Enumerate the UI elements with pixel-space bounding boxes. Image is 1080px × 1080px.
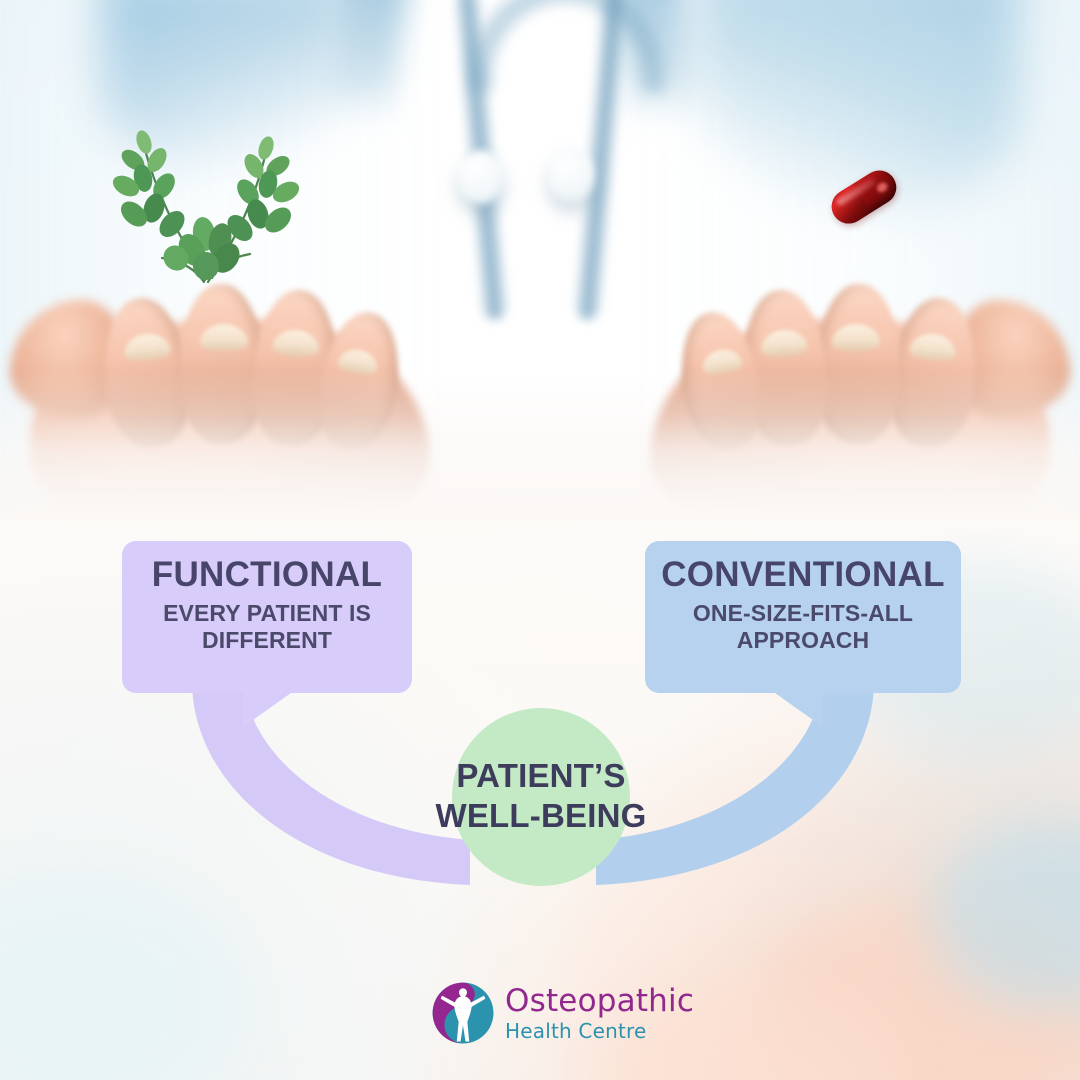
stethoscope-yoke bbox=[470, 0, 664, 92]
patient-wellbeing-line-2: WELL-BEING bbox=[382, 796, 700, 836]
logo-title: Osteopathic bbox=[505, 986, 694, 1017]
functional-subtitle-line-1: EVERY PATIENT IS bbox=[136, 600, 398, 627]
functional-subtitle-line-2: DIFFERENT bbox=[136, 627, 398, 654]
bubble-tail-right bbox=[775, 693, 823, 727]
patient-wellbeing-label: PATIENT’S WELL-BEING bbox=[382, 756, 700, 835]
photo-bottom-fade bbox=[0, 370, 1080, 520]
osteopathic-health-centre-logo-mark bbox=[432, 982, 494, 1044]
herb-sprig-icon bbox=[100, 108, 320, 288]
logo-wordmark: Osteopathic Health Centre bbox=[505, 986, 694, 1041]
conventional-title: CONVENTIONAL bbox=[659, 557, 947, 593]
patient-wellbeing-line-1: PATIENT’S bbox=[382, 756, 700, 796]
conventional-subtitle-line-2: APPROACH bbox=[659, 627, 947, 654]
logo-subtitle: Health Centre bbox=[505, 1021, 694, 1041]
comparison-card-conventional[interactable]: CONVENTIONAL ONE-SIZE-FITS-ALL APPROACH bbox=[645, 541, 961, 693]
brand-logo[interactable]: Osteopathic Health Centre bbox=[432, 982, 694, 1044]
hero-photo bbox=[0, 0, 1080, 520]
bubble-tail-left bbox=[243, 693, 291, 727]
comparison-card-functional[interactable]: FUNCTIONAL EVERY PATIENT IS DIFFERENT bbox=[122, 541, 412, 693]
herb-sprig-svg bbox=[100, 108, 320, 288]
functional-title: FUNCTIONAL bbox=[136, 557, 398, 593]
infographic-canvas: FUNCTIONAL EVERY PATIENT IS DIFFERENT CO… bbox=[0, 0, 1080, 1080]
stethoscope-earpiece-right bbox=[548, 148, 594, 202]
stethoscope-earpiece-left bbox=[458, 150, 504, 204]
conventional-subtitle-line-1: ONE-SIZE-FITS-ALL bbox=[659, 600, 947, 627]
